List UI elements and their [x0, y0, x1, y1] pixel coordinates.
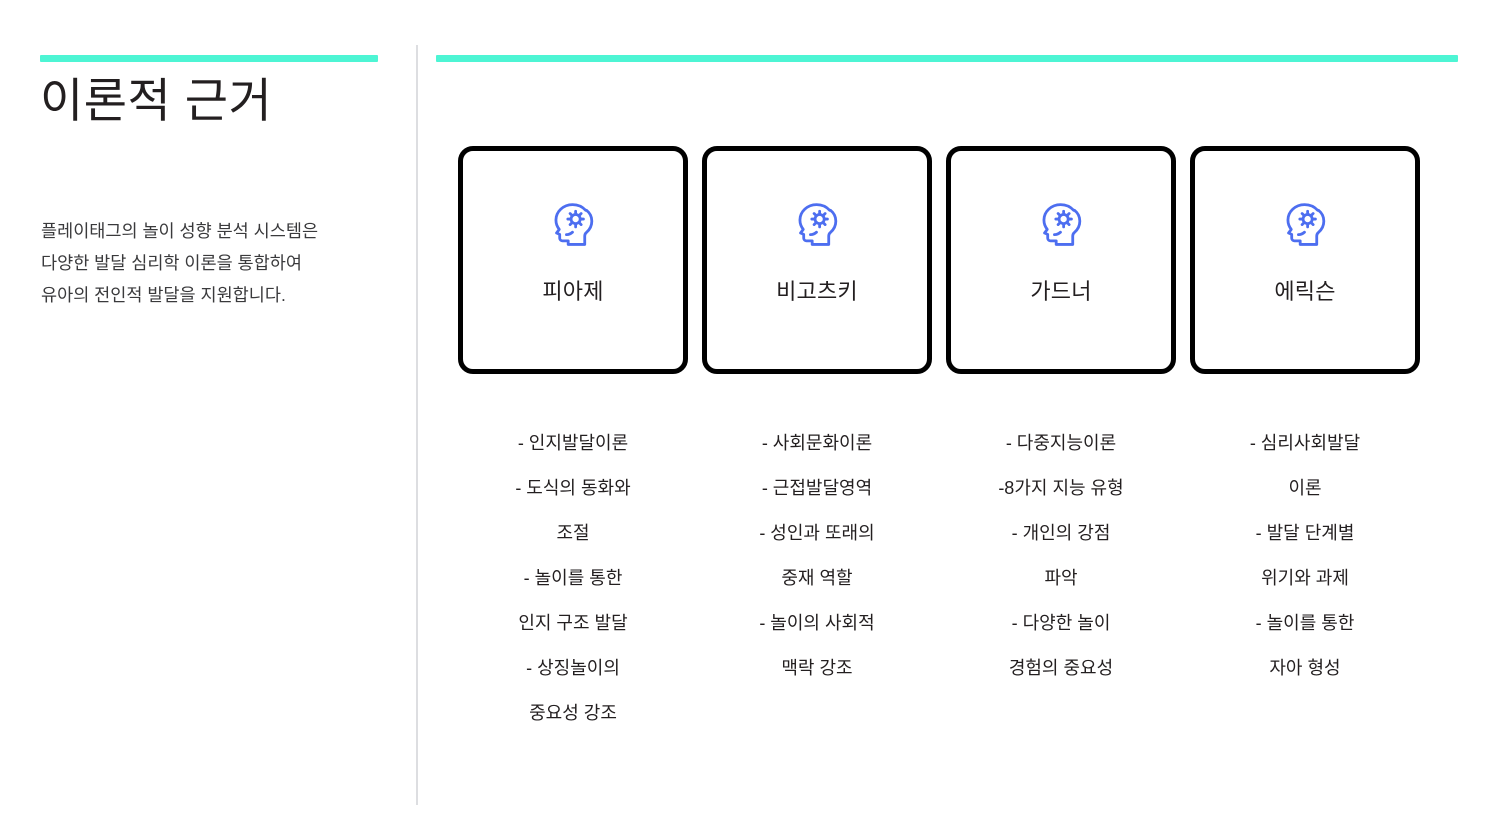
- bullet-line: - 다양한 놀이: [946, 601, 1176, 646]
- head-gear-icon: [1277, 195, 1333, 251]
- bullet-line: - 근접발달영역: [702, 466, 932, 511]
- head-gear-icon: [545, 195, 601, 251]
- bullet-line: 파악: [946, 556, 1176, 601]
- vertical-divider: [416, 45, 418, 805]
- bullet-line: 중재 역할: [702, 556, 932, 601]
- theory-bullets-vygotsky: - 사회문화이론 - 근접발달영역 - 성인과 또래의 중재 역할 - 놀이의 …: [702, 421, 932, 691]
- bullet-line: - 개인의 강점: [946, 511, 1176, 556]
- theory-bullets-piaget: - 인지발달이론 - 도식의 동화와 조절 - 놀이를 통한 인지 구조 발달 …: [458, 421, 688, 736]
- theory-column-piaget: 피아제 - 인지발달이론 - 도식의 동화와 조절 - 놀이를 통한 인지 구조…: [458, 146, 688, 736]
- right-panel: 피아제 - 인지발달이론 - 도식의 동화와 조절 - 놀이를 통한 인지 구조…: [436, 0, 1460, 838]
- theory-card-gardner[interactable]: 가드너: [946, 146, 1176, 374]
- bullet-line: 경험의 중요성: [946, 646, 1176, 691]
- bullet-line: 인지 구조 발달: [458, 601, 688, 646]
- slide-root: 이론적 근거 플레이태그의 놀이 성향 분석 시스템은 다양한 발달 심리학 이…: [0, 0, 1490, 838]
- left-description-line: 다양한 발달 심리학 이론을 통합하여: [41, 247, 376, 279]
- bullet-line: - 인지발달이론: [458, 421, 688, 466]
- bullet-line: -8가지 지능 유형: [946, 466, 1176, 511]
- theory-card-label: 에릭슨: [1274, 274, 1335, 306]
- theory-card-piaget[interactable]: 피아제: [458, 146, 688, 374]
- theory-card-vygotsky[interactable]: 비고츠키: [702, 146, 932, 374]
- theory-cards-row: 피아제 - 인지발달이론 - 도식의 동화와 조절 - 놀이를 통한 인지 구조…: [458, 146, 1452, 736]
- left-description-line: 플레이태그의 놀이 성향 분석 시스템은: [41, 215, 376, 247]
- head-gear-icon: [789, 195, 845, 251]
- bullet-line: 자아 형성: [1190, 646, 1420, 691]
- bullet-line: 이론: [1190, 466, 1420, 511]
- bullet-line: 중요성 강조: [458, 691, 688, 736]
- bullet-line: - 놀이의 사회적: [702, 601, 932, 646]
- bullet-line: - 놀이를 통한: [1190, 601, 1420, 646]
- theory-card-erikson[interactable]: 에릭슨: [1190, 146, 1420, 374]
- left-description-line: 유아의 전인적 발달을 지원합니다.: [41, 279, 376, 311]
- left-description: 플레이태그의 놀이 성향 분석 시스템은 다양한 발달 심리학 이론을 통합하여…: [41, 215, 376, 311]
- bullet-line: 맥락 강조: [702, 646, 932, 691]
- bullet-line: 위기와 과제: [1190, 556, 1420, 601]
- page-title: 이론적 근거: [40, 72, 272, 131]
- theory-bullets-erikson: - 심리사회발달 이론 - 발달 단계별 위기와 과제 - 놀이를 통한 자아 …: [1190, 421, 1420, 691]
- bullet-line: 조절: [458, 511, 688, 556]
- bullet-line: - 발달 단계별: [1190, 511, 1420, 556]
- bullet-line: - 도식의 동화와: [458, 466, 688, 511]
- theory-card-label: 비고츠키: [776, 274, 858, 306]
- head-gear-icon: [1033, 195, 1089, 251]
- left-panel: 이론적 근거 플레이태그의 놀이 성향 분석 시스템은 다양한 발달 심리학 이…: [40, 0, 380, 838]
- accent-bar-left: [40, 55, 378, 62]
- theory-column-vygotsky: 비고츠키 - 사회문화이론 - 근접발달영역 - 성인과 또래의 중재 역할 -…: [702, 146, 932, 736]
- bullet-line: - 다중지능이론: [946, 421, 1176, 466]
- bullet-line: - 성인과 또래의: [702, 511, 932, 556]
- theory-bullets-gardner: - 다중지능이론 -8가지 지능 유형 - 개인의 강점 파악 - 다양한 놀이…: [946, 421, 1176, 691]
- theory-card-label: 피아제: [542, 274, 603, 306]
- theory-card-label: 가드너: [1030, 274, 1091, 306]
- accent-bar-right: [436, 55, 1458, 62]
- theory-column-gardner: 가드너 - 다중지능이론 -8가지 지능 유형 - 개인의 강점 파악 - 다양…: [946, 146, 1176, 736]
- bullet-line: - 심리사회발달: [1190, 421, 1420, 466]
- bullet-line: - 놀이를 통한: [458, 556, 688, 601]
- bullet-line: - 사회문화이론: [702, 421, 932, 466]
- theory-column-erikson: 에릭슨 - 심리사회발달 이론 - 발달 단계별 위기와 과제 - 놀이를 통한…: [1190, 146, 1420, 736]
- bullet-line: - 상징놀이의: [458, 646, 688, 691]
